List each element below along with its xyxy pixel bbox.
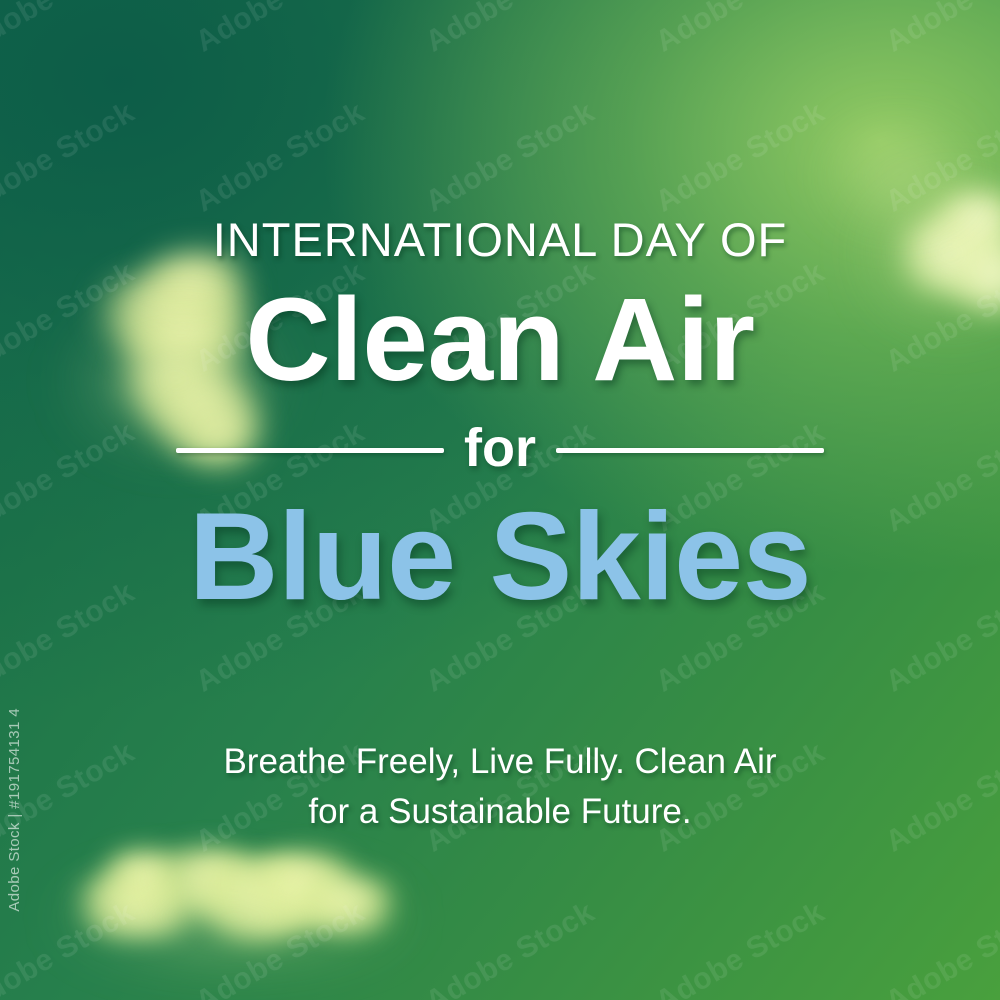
headline-secondary: Blue Skies (189, 495, 811, 619)
tagline-line-2: for a Sustainable Future. (223, 787, 776, 837)
connector-row: for (176, 421, 824, 479)
clean-air-poster: Adobe Stock Adobe Stock Adobe Stock Adob… (0, 0, 1000, 1000)
tagline: Breathe Freely, Live Fully. Clean Air fo… (223, 737, 776, 836)
eyebrow-text: INTERNATIONAL DAY OF (213, 216, 788, 263)
headline-primary: Clean Air (245, 281, 754, 399)
poster-content: INTERNATIONAL DAY OF Clean Air for Blue … (0, 0, 1000, 1000)
tagline-line-1: Breathe Freely, Live Fully. Clean Air (223, 737, 776, 787)
divider-rule-right (556, 448, 824, 453)
connector-text: for (464, 421, 536, 479)
divider-rule-left (176, 448, 444, 453)
